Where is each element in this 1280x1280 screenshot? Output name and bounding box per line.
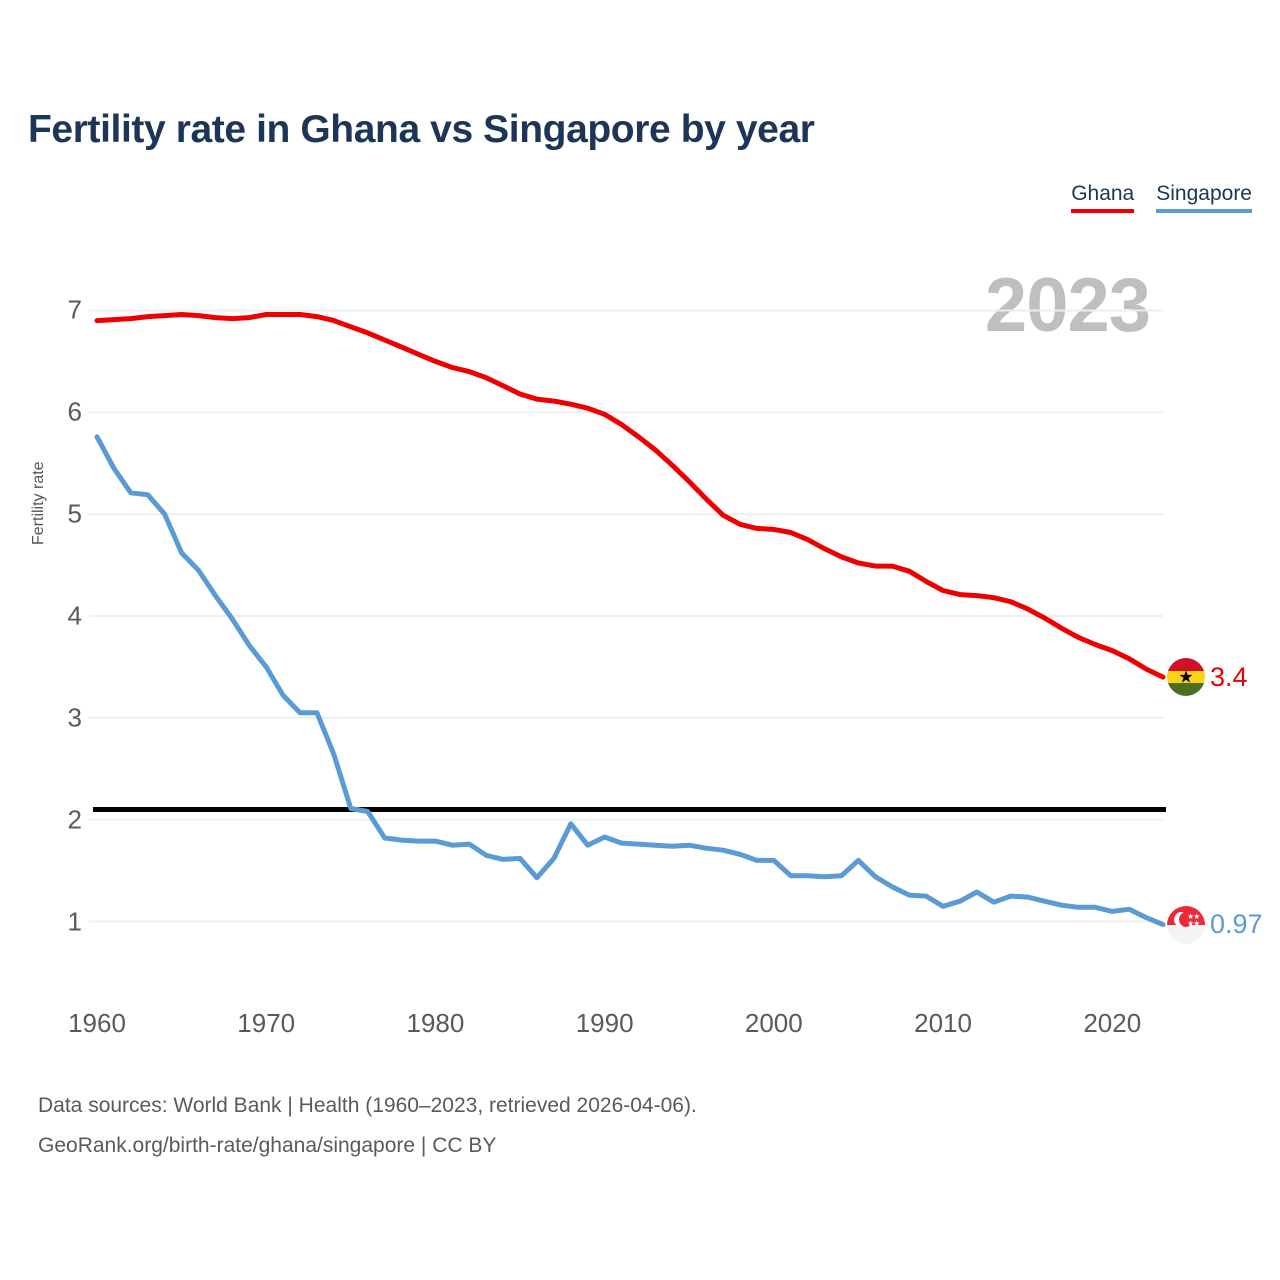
series-line-singapore [97, 437, 1163, 925]
fertility-rate-chart: Fertility rate in Ghana vs Singapore by … [0, 0, 1280, 1280]
footer-credits: Data sources: World Bank | Health (1960–… [38, 1086, 697, 1166]
ghana-endpoint[interactable]: ★ 3.4 [1167, 658, 1248, 696]
gridlines [89, 310, 1163, 921]
ghana-endpoint-value: 3.4 [1210, 662, 1248, 693]
singapore-endpoint[interactable]: ★★★★ 0.97 [1167, 906, 1263, 944]
footer-line-1: Data sources: World Bank | Health (1960–… [38, 1086, 697, 1126]
series-line-ghana [97, 315, 1163, 678]
singapore-flag-icon: ★★★★ [1167, 906, 1205, 944]
singapore-endpoint-value: 0.97 [1210, 909, 1263, 940]
ghana-flag-icon: ★ [1167, 658, 1205, 696]
footer-line-2: GeoRank.org/birth-rate/ghana/singapore |… [38, 1126, 697, 1166]
